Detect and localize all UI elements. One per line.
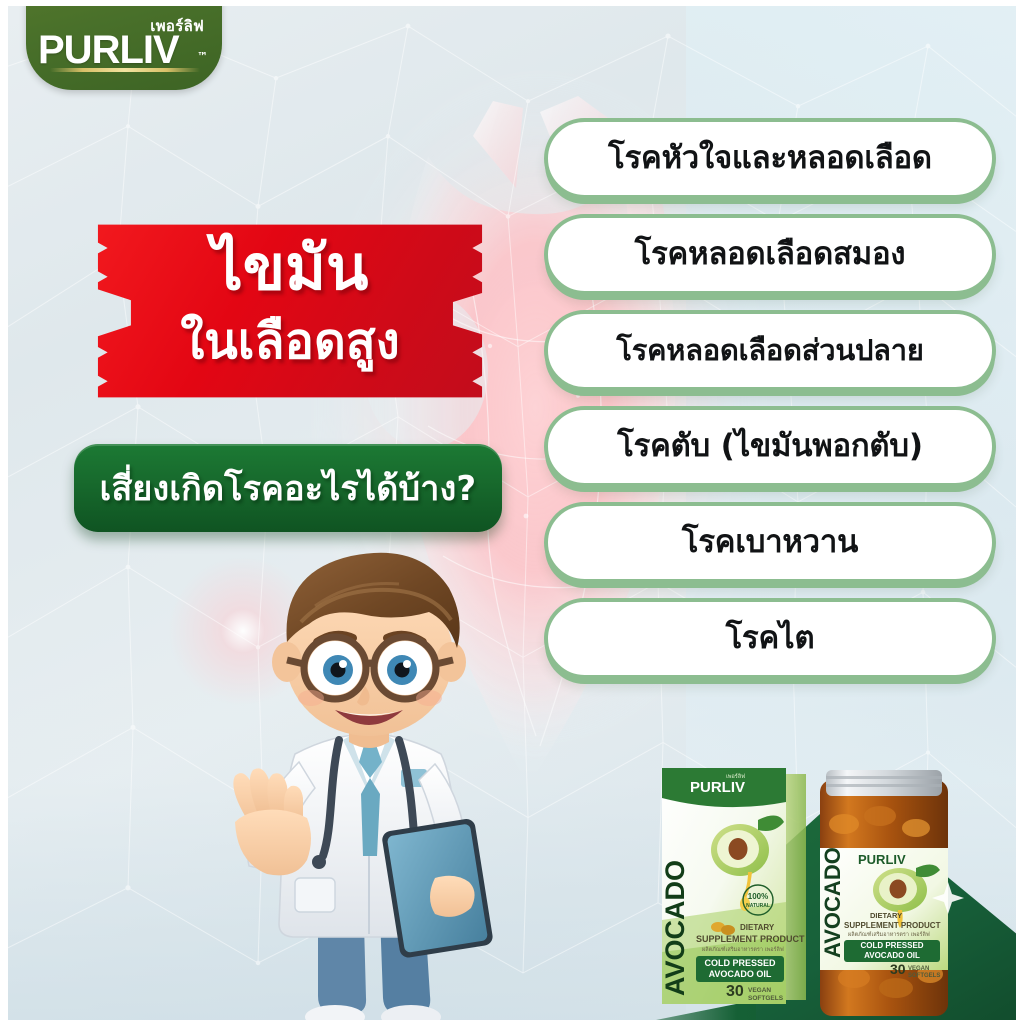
list-item-label: โรคหลอดเลือดส่วนปลาย xyxy=(616,336,923,365)
trademark-symbol: ™ xyxy=(197,50,208,63)
list-item-label: โรคหัวใจและหลอดเลือด xyxy=(608,143,932,174)
headline-line-1: ไขมัน xyxy=(96,237,484,299)
cartoon-doctor-character xyxy=(183,526,555,1020)
poster-canvas: เพอร์ลิฟ PURLIV ™ ไขมัน ในเลือดสูง เสี่ย… xyxy=(0,0,1024,1024)
box-product-name: AVOCADO xyxy=(660,860,690,996)
bottle-brand: PURLIV xyxy=(858,852,906,867)
svg-text:NATURAL: NATURAL xyxy=(746,903,770,909)
svg-text:AVOCADO OIL: AVOCADO OIL xyxy=(864,951,920,960)
svg-text:VEGAN: VEGAN xyxy=(908,966,929,972)
box-brand: PURLIV xyxy=(690,779,745,796)
headline-ticket-banner: ไขมัน ในเลือดสูง xyxy=(96,221,484,401)
list-item-label: โรคหลอดเลือดสมอง xyxy=(635,239,906,270)
list-item-label: โรคเบาหวาน xyxy=(682,527,858,558)
svg-text:DIETARY: DIETARY xyxy=(740,923,775,932)
svg-text:30: 30 xyxy=(726,983,744,1000)
svg-text:30: 30 xyxy=(890,961,906,977)
svg-text:SOFTGELS: SOFTGELS xyxy=(908,973,940,979)
headline-line-2: ในเลือดสูง xyxy=(96,317,484,366)
list-item-label: โรคไต xyxy=(726,623,815,654)
svg-text:SUPPLEMENT PRODUCT: SUPPLEMENT PRODUCT xyxy=(844,921,941,930)
svg-text:ผลิตภัณฑ์เสริมอาหารตรา เพอร์ลิ: ผลิตภัณฑ์เสริมอาหารตรา เพอร์ลิฟ xyxy=(848,931,930,938)
poster-stage: เพอร์ลิฟ PURLIV ™ ไขมัน ในเลือดสูง เสี่ย… xyxy=(8,6,1016,1020)
svg-text:VEGAN: VEGAN xyxy=(748,987,771,994)
cta-label: เสี่ยงเกิดโรคอะไรได้บ้าง? xyxy=(100,461,477,515)
svg-text:AVOCADO OIL: AVOCADO OIL xyxy=(709,969,772,979)
gold-swoosh-divider xyxy=(50,68,200,72)
list-item[interactable]: โรคหลอดเลือดสมอง xyxy=(544,214,996,295)
list-item[interactable]: โรคหัวใจและหลอดเลือด xyxy=(544,118,996,199)
product-bottle: PURLIV AVOCADO DIETARY SUPPLEMENT PRODUC… xyxy=(820,770,964,1016)
svg-text:COLD PRESSED: COLD PRESSED xyxy=(860,941,923,950)
product-box: PURLIV เพอร์ลิฟ AVOCADO 100 xyxy=(660,768,806,1004)
brand-logo[interactable]: เพอร์ลิฟ PURLIV ™ xyxy=(26,6,222,90)
list-item-label: โรคตับ (ไขมันพอกตับ) xyxy=(617,431,923,462)
brand-logo-wordmark: PURLIV xyxy=(38,28,179,73)
list-item[interactable]: โรคหลอดเลือดส่วนปลาย xyxy=(544,310,996,391)
list-item[interactable]: โรคเบาหวาน xyxy=(544,502,996,583)
svg-text:SOFTGELS: SOFTGELS xyxy=(748,995,784,1002)
svg-text:SUPPLEMENT PRODUCT: SUPPLEMENT PRODUCT xyxy=(696,934,805,944)
list-item[interactable]: โรคตับ (ไขมันพอกตับ) xyxy=(544,406,996,487)
svg-text:DIETARY: DIETARY xyxy=(870,911,902,920)
product-photo-group: PURLIV AVOCADO DIETARY SUPPLEMENT PRODUC… xyxy=(648,752,1016,1020)
disease-risk-list: โรคหัวใจและหลอดเลือด โรคหลอดเลือดสมอง โร… xyxy=(544,118,996,679)
cta-question-button[interactable]: เสี่ยงเกิดโรคอะไรได้บ้าง? xyxy=(74,444,502,532)
svg-text:COLD PRESSED: COLD PRESSED xyxy=(704,958,776,968)
svg-text:100%: 100% xyxy=(748,892,768,901)
list-item[interactable]: โรคไต xyxy=(544,598,996,679)
svg-text:ผลิตภัณฑ์เสริมอาหารตรา เพอร์ลิ: ผลิตภัณฑ์เสริมอาหารตรา เพอร์ลิฟ xyxy=(702,946,784,953)
svg-text:เพอร์ลิฟ: เพอร์ลิฟ xyxy=(726,773,745,780)
bottle-product-name: AVOCADO xyxy=(820,847,845,958)
